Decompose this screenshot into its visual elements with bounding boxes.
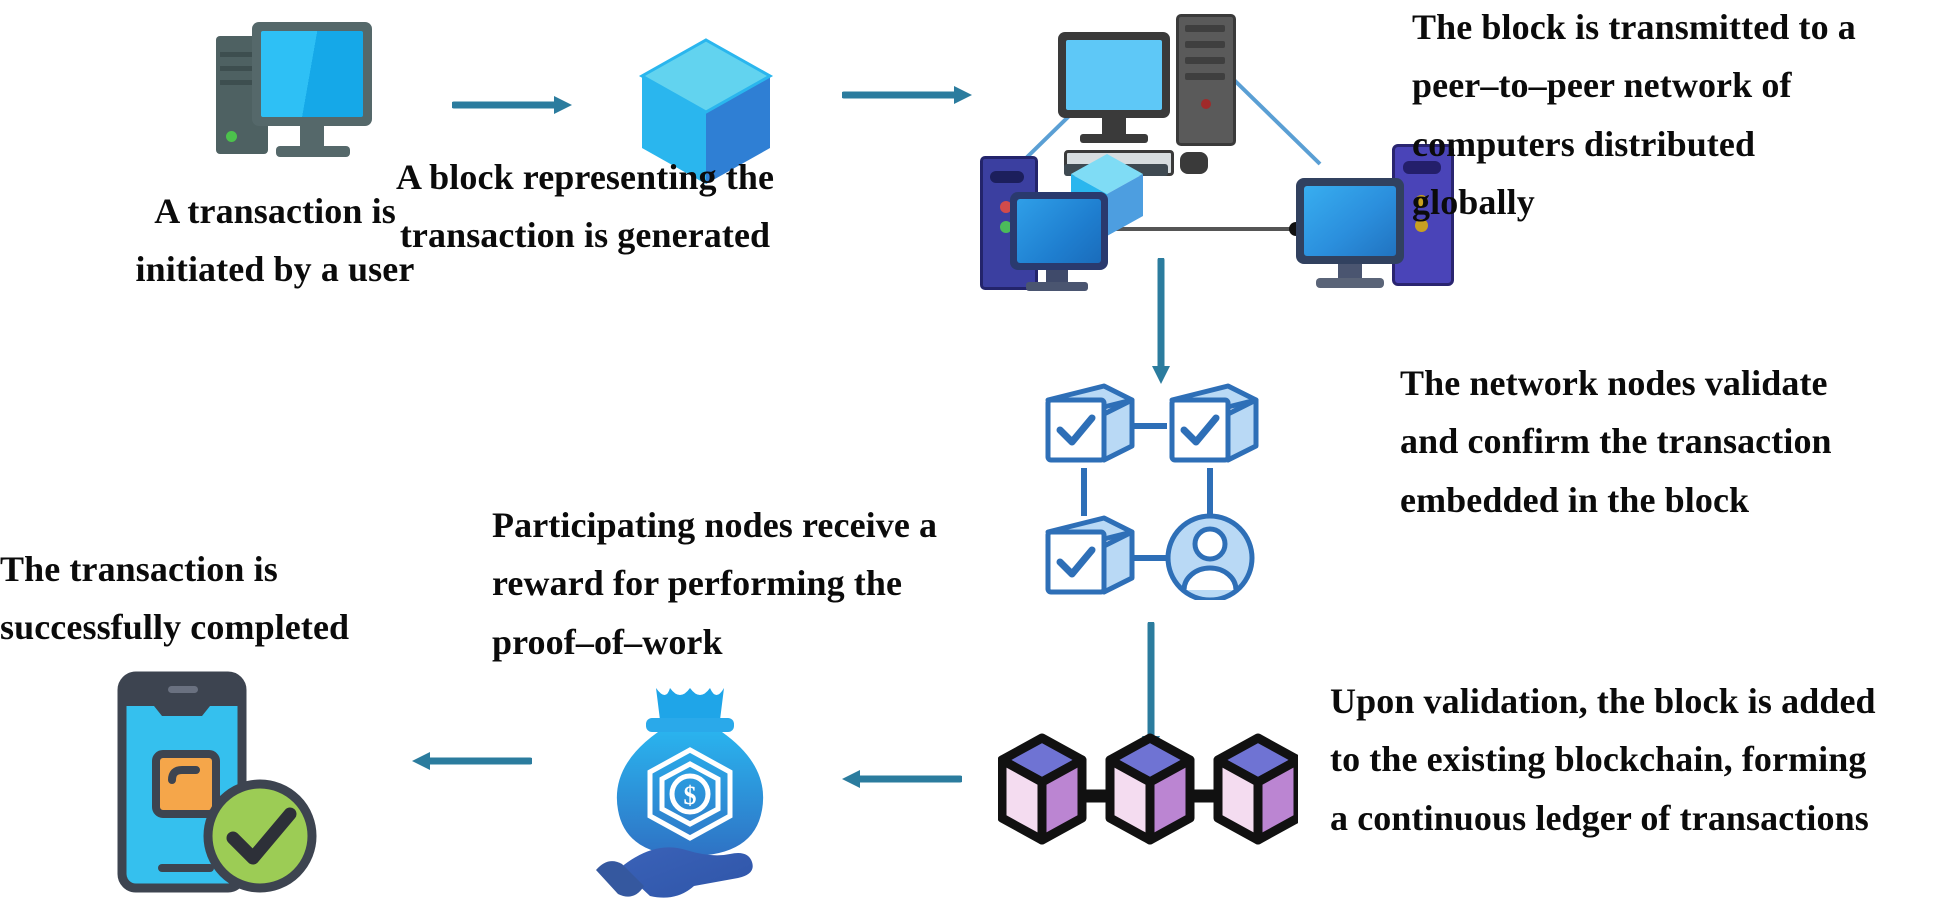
computer-monitor xyxy=(1010,192,1108,270)
step-2-caption: A block representing the transaction is … xyxy=(380,148,790,265)
blockchain-blocks-icon xyxy=(998,730,1298,865)
monitor-screen xyxy=(1017,199,1101,263)
monitor-base xyxy=(276,146,350,157)
computer-tower xyxy=(1176,14,1236,146)
desktop-computer-icon xyxy=(216,22,376,162)
svg-text:$: $ xyxy=(684,781,697,810)
monitor-screen xyxy=(1066,40,1162,110)
phone-speaker xyxy=(168,686,198,693)
mouse-icon xyxy=(1180,152,1208,174)
phone-success-check-icon xyxy=(100,668,320,913)
success-check-circle xyxy=(208,784,312,888)
chain-block-2 xyxy=(1110,738,1190,840)
step-5-caption: Upon validation, the block is added to t… xyxy=(1330,672,1941,847)
app-icon xyxy=(156,754,216,814)
peer-to-peer-network-icon xyxy=(1000,14,1400,264)
diagram-canvas: A transaction is initiated by a user A b… xyxy=(0,0,1941,914)
drive-slot xyxy=(990,171,1024,183)
step-3-caption: The block is transmitted to a peer–to–pe… xyxy=(1412,0,1932,231)
monitor-neck xyxy=(300,126,324,148)
validation-nodes-icon xyxy=(1032,376,1262,600)
validated-block-1 xyxy=(1048,386,1132,460)
monitor-base xyxy=(1316,278,1384,288)
step-7-caption: The transaction is successfully complete… xyxy=(0,540,420,657)
bag-tie xyxy=(656,688,724,720)
computer-monitor xyxy=(1296,178,1404,264)
monitor-base xyxy=(1080,134,1148,143)
step-6-caption: Participating nodes receive a reward for… xyxy=(492,496,1032,671)
computer-monitor xyxy=(252,22,372,126)
computer-monitor xyxy=(1058,32,1170,118)
arrow-step1-to-step2 xyxy=(452,92,572,123)
arrow-step6-to-step7 xyxy=(402,748,532,779)
arrow-step3-to-step4 xyxy=(1148,258,1174,389)
arrow-step5-to-step6 xyxy=(832,766,962,797)
power-button-icon xyxy=(1201,99,1211,109)
phone-home-bar xyxy=(158,864,214,872)
chain-block-1 xyxy=(1002,738,1082,840)
monitor-base xyxy=(1026,282,1088,291)
user-node-icon xyxy=(1168,516,1252,600)
validated-block-3 xyxy=(1048,518,1132,592)
monitor-screen xyxy=(1304,186,1396,256)
power-led-icon xyxy=(226,131,237,142)
monitor-screen xyxy=(261,31,363,117)
chain-block-3 xyxy=(1218,738,1298,840)
arrow-step2-to-step3 xyxy=(842,82,972,113)
reward-money-bag-icon: $ xyxy=(590,672,790,905)
validated-block-2 xyxy=(1172,386,1256,460)
step-4-caption: The network nodes validate and confirm t… xyxy=(1400,354,1940,529)
